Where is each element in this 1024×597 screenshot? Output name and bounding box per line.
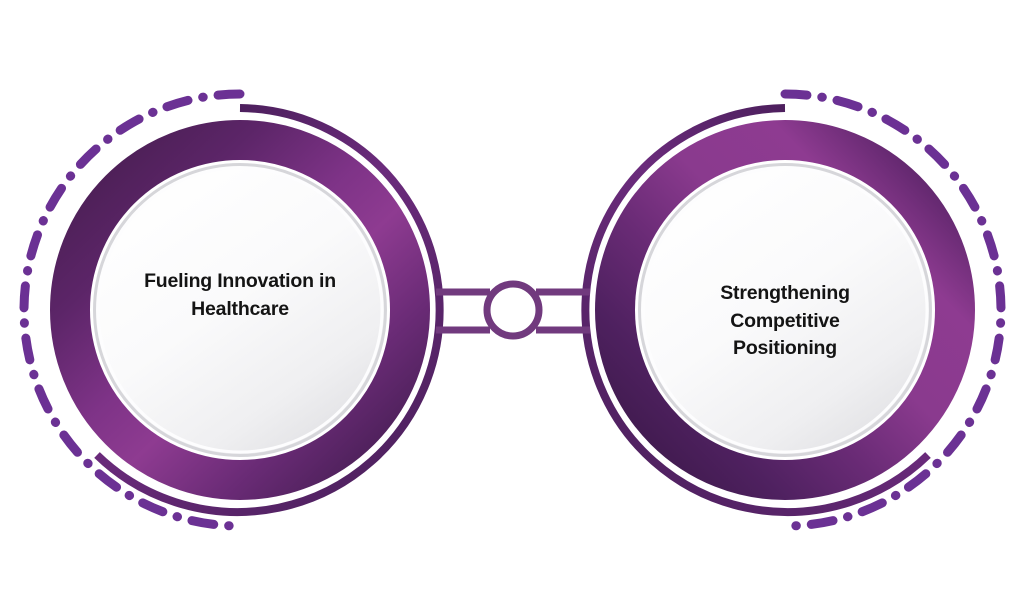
diagram-canvas: Fueling Innovation in Healthcare Strengt…	[0, 0, 1024, 597]
diagram-svg	[0, 0, 1024, 597]
center-connector	[436, 284, 590, 336]
node-right[interactable]	[585, 94, 1001, 526]
node-left[interactable]	[24, 94, 440, 526]
connector-hub-circle	[487, 284, 539, 336]
